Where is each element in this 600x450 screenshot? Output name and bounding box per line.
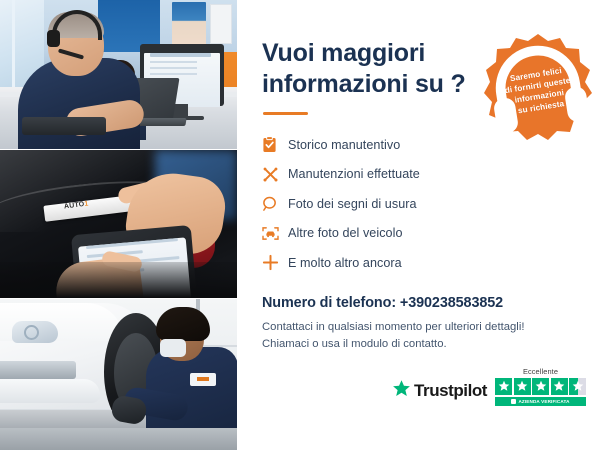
verified-business-badge: AZIENDA VERIFICATA — [495, 397, 586, 406]
star-icon — [532, 378, 549, 395]
trustpilot-rating-label: Eccellente — [523, 367, 558, 376]
callout-badge: Saremo felici di fornirti queste informa… — [482, 32, 594, 144]
phone-number-label[interactable]: Numero di telefono: +390238583852 — [262, 295, 578, 311]
list-item-label: E molto altro ancora — [288, 256, 402, 270]
star-half-icon — [569, 378, 586, 395]
page-title: Vuoi maggiori informazioni su ? — [262, 38, 472, 99]
star-icon — [495, 378, 512, 395]
star-icon — [551, 378, 568, 395]
list-item: Altre foto del veicolo — [262, 220, 578, 247]
clipboard-check-icon — [262, 136, 288, 153]
trustpilot-star-icon — [392, 379, 411, 403]
contact-note: Contattaci in qualsiasi momento per ulte… — [262, 319, 578, 353]
list-item-label: Manutenzioni effettuate — [288, 167, 420, 181]
car-scan-icon — [262, 226, 288, 241]
trustpilot-stars — [495, 378, 586, 395]
list-item-label: Foto dei segni di usura — [288, 197, 417, 211]
list-item-label: Storico manutentivo — [288, 138, 400, 152]
title-divider — [263, 112, 308, 115]
trustpilot-brand: Trustpilot — [414, 381, 487, 401]
list-item: Manutenzioni effettuate — [262, 161, 578, 188]
contact-note-line-2: Chiamaci o usa il modulo di contatto. — [262, 336, 578, 353]
call-centre-agent-with-headset-photo — [0, 0, 237, 149]
technician-inspecting-car-with-tablet-photo: AUTO1 — [0, 150, 237, 298]
mechanic-servicing-wheel-on-lift-photo — [0, 299, 237, 450]
contact-note-line-1: Contattaci in qualsiasi momento per ulte… — [262, 319, 578, 336]
photo-column: AUTO1 — [0, 0, 237, 450]
tools-cross-icon — [262, 166, 288, 183]
promo-banner: AUTO1 — [0, 0, 600, 450]
magnifier-icon — [262, 196, 288, 212]
list-item: E molto altro ancora — [262, 249, 578, 276]
list-item-label: Altre foto del veicolo — [288, 226, 403, 240]
feature-list: Storico manutentivo Manutenzioni effettu… — [262, 131, 578, 276]
list-item: Foto dei segni di usura — [262, 190, 578, 217]
plus-icon — [262, 254, 288, 271]
content-panel: Vuoi maggiori informazioni su ? Saremo f… — [237, 0, 600, 450]
star-icon — [514, 378, 531, 395]
verified-business-label: AZIENDA VERIFICATA — [518, 399, 569, 404]
trustpilot-widget[interactable]: Trustpilot Eccellente — [392, 367, 586, 406]
